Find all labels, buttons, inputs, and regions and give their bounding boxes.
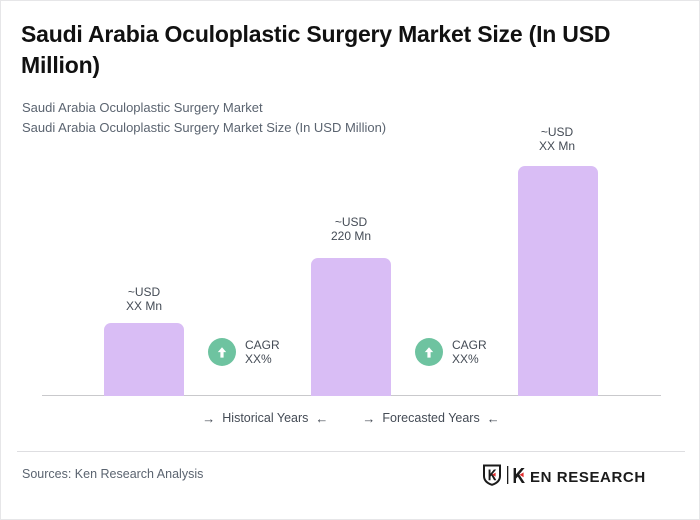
bar-value-label-3-line-2: XX Mn: [497, 139, 617, 153]
bar-value-label-2: ~USD 220 Mn: [291, 215, 411, 243]
bar-value-label-1: ~USD XX Mn: [84, 285, 204, 313]
cagr-badge-1-line-1: CAGR: [245, 338, 280, 352]
bar-value-label-1-line-1: ~USD: [84, 285, 204, 299]
chart-card: Saudi Arabia Oculoplastic Surgery Market…: [0, 0, 700, 520]
ken-research-logo: EN RESEARCH: [482, 464, 646, 491]
logo-k-mark-icon: [513, 467, 526, 489]
arrow-right-icon: →: [362, 412, 375, 425]
arrow-up-icon: [208, 338, 236, 366]
bar-historical: [104, 323, 184, 396]
bar-forecast: [518, 166, 598, 396]
cagr-badge-1-line-2: XX%: [245, 352, 272, 366]
arrow-left-icon: ←: [487, 412, 500, 425]
arrow-left-icon: ←: [315, 412, 328, 425]
cagr-badge-2-text: CAGR XX%: [452, 338, 487, 366]
sources-text: Sources: Ken Research Analysis: [22, 467, 203, 481]
cagr-badge-2-line-2: XX%: [452, 352, 479, 366]
chart-plot-area: ~USD XX Mn ~USD 220 Mn ~USD XX Mn CAGR X…: [1, 1, 700, 441]
bar-value-label-3-line-1: ~USD: [497, 125, 617, 139]
period-caption-historical-label: Historical Years: [222, 411, 308, 425]
period-caption-historical: → Historical Years ←: [202, 411, 328, 425]
cagr-badge-2: CAGR XX%: [415, 338, 487, 366]
bar-value-label-3: ~USD XX Mn: [497, 125, 617, 153]
period-caption-forecasted: → Forecasted Years ←: [362, 411, 499, 425]
logo-wordmark: EN RESEARCH: [530, 470, 646, 485]
bar-value-label-2-line-2: 220 Mn: [291, 229, 411, 243]
period-caption-forecasted-label: Forecasted Years: [382, 411, 479, 425]
footer-divider: [17, 451, 685, 452]
cagr-badge-1: CAGR XX%: [208, 338, 280, 366]
cagr-badge-1-text: CAGR XX%: [245, 338, 280, 366]
bar-mid: [311, 258, 391, 396]
cagr-badge-2-line-1: CAGR: [452, 338, 487, 352]
shield-logo-icon: [482, 464, 502, 491]
bar-value-label-2-line-1: ~USD: [291, 215, 411, 229]
bar-value-label-1-line-2: XX Mn: [84, 299, 204, 313]
arrow-up-icon: [415, 338, 443, 366]
logo-divider: [506, 466, 509, 489]
arrow-right-icon: →: [202, 412, 215, 425]
period-captions: → Historical Years ← → Forecasted Years …: [1, 411, 700, 425]
